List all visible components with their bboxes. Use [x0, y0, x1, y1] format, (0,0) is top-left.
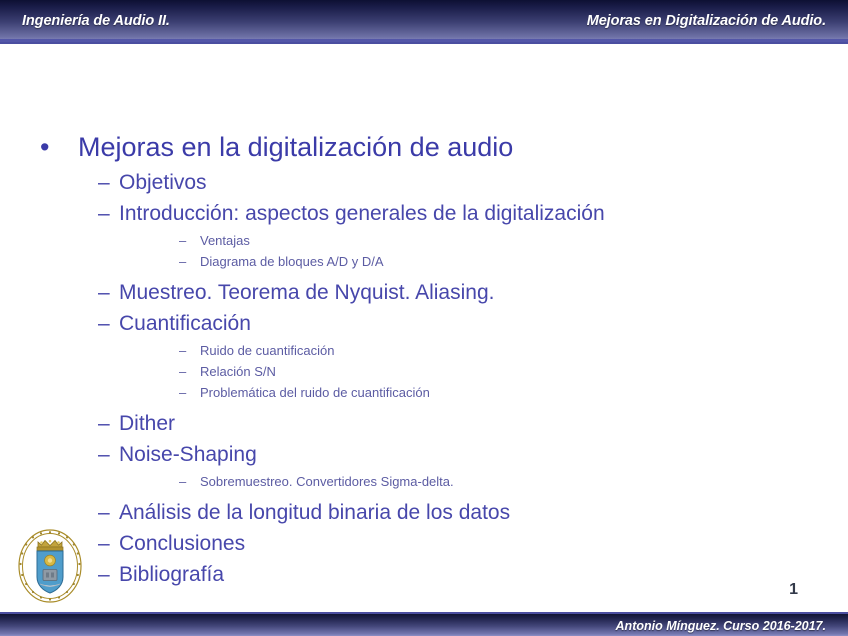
outline-list: •Mejoras en la digitalización de audio–O… — [0, 130, 820, 591]
outline-item-level3: –Sobremuestreo. Convertidores Sigma-delt… — [0, 471, 820, 492]
outline-item-level3: –Ruido de cuantificación — [0, 340, 820, 361]
bullet-glyph-level3: – — [179, 386, 200, 399]
outline-item-label: Introducción: aspectos generales de la d… — [119, 199, 605, 229]
crown-shape — [37, 540, 63, 551]
bullet-glyph-level2: – — [98, 502, 119, 523]
outline-item-level1: •Mejoras en la digitalización de audio — [0, 130, 820, 164]
outline-item-label: Objetivos — [119, 168, 207, 198]
bullet-glyph-level3: – — [179, 475, 200, 488]
outline-item-label: Ventajas — [200, 230, 250, 251]
university-logo — [16, 527, 84, 605]
slide-footer-bar: Antonio Mínguez. Curso 2016-2017. — [0, 612, 848, 636]
outline-item-level2: –Conclusiones — [0, 529, 820, 559]
header-course-title: Ingeniería de Audio II. — [22, 13, 170, 29]
outline-item-label: Dither — [119, 409, 175, 439]
bullet-glyph-level2: – — [98, 282, 119, 303]
outline-item-level2: –Objetivos — [0, 168, 820, 198]
outline-item-level3: –Diagrama de bloques A/D y D/A — [0, 251, 820, 272]
slide-header-bar: Ingeniería de Audio II. Mejoras en Digit… — [0, 0, 848, 44]
slide-content-area: •Mejoras en la digitalización de audio–O… — [0, 44, 848, 612]
upm-seal-icon — [16, 527, 84, 605]
bullet-glyph-level3: – — [179, 365, 200, 378]
shield-shape — [37, 551, 63, 593]
bullet-glyph-level3: – — [179, 234, 200, 247]
outline-item-label: Ruido de cuantificación — [200, 340, 334, 361]
outline-item-level2: –Bibliografía — [0, 560, 820, 590]
bullet-glyph-level2: – — [98, 413, 119, 434]
outline-item-label: Cuantificación — [119, 309, 251, 339]
outline-item-level3: –Problemática del ruido de cuantificació… — [0, 382, 820, 403]
outline-item-label: Relación S/N — [200, 361, 276, 382]
outline-item-label: Diagrama de bloques A/D y D/A — [200, 251, 384, 272]
bullet-glyph-level2: – — [98, 313, 119, 334]
outline-item-level3: –Relación S/N — [0, 361, 820, 382]
bullet-glyph-level2: – — [98, 444, 119, 465]
outline-item-label: Muestreo. Teorema de Nyquist. Aliasing. — [119, 278, 494, 308]
bullet-glyph-level3: – — [179, 344, 200, 357]
outline-item-level2: –Análisis de la longitud binaria de los … — [0, 498, 820, 528]
bullet-glyph-level2: – — [98, 564, 119, 585]
outline-item-level2: –Noise-Shaping — [0, 440, 820, 470]
outline-item-level2: –Introducción: aspectos generales de la … — [0, 199, 820, 229]
page-number: 1 — [789, 581, 798, 599]
bullet-glyph-level2: – — [98, 172, 119, 193]
footer-author-course: Antonio Mínguez. Curso 2016-2017. — [616, 619, 826, 633]
outline-item-level3: –Ventajas — [0, 230, 820, 251]
outline-item-label: Conclusiones — [119, 529, 245, 559]
outline-item-label: Noise-Shaping — [119, 440, 257, 470]
outline-item-label: Problemática del ruido de cuantificación — [200, 382, 430, 403]
outline-item-label: Mejoras en la digitalización de audio — [78, 130, 513, 164]
bullet-glyph-level1: • — [40, 134, 78, 161]
outline-item-level2: –Cuantificación — [0, 309, 820, 339]
outline-item-label: Bibliografía — [119, 560, 224, 590]
bullet-glyph-level3: – — [179, 255, 200, 268]
outline-item-label: Análisis de la longitud binaria de los d… — [119, 498, 510, 528]
outline-item-level2: –Dither — [0, 409, 820, 439]
outline-item-label: Sobremuestreo. Convertidores Sigma-delta… — [200, 471, 454, 492]
bullet-glyph-level2: – — [98, 533, 119, 554]
outline-item-level2: –Muestreo. Teorema de Nyquist. Aliasing. — [0, 278, 820, 308]
bullet-glyph-level2: – — [98, 203, 119, 224]
header-topic-title: Mejoras en Digitalización de Audio. — [587, 13, 826, 29]
